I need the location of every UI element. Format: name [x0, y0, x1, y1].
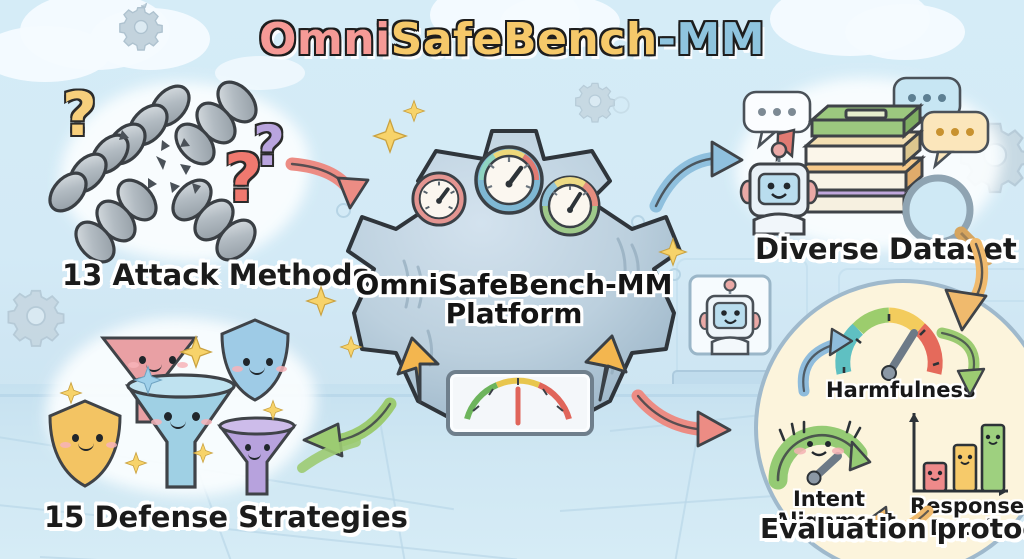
infographic-canvas: OmniSafeBench-MM — [0, 0, 1024, 559]
sparkle-icon — [125, 452, 147, 479]
defense-caption: 15 Defense Strategies — [44, 500, 408, 534]
arrow-dataset-to-evaluation — [938, 238, 1010, 355]
speech-bubble-icon — [922, 112, 988, 166]
gauge-icon — [410, 170, 468, 233]
gear-icon — [608, 92, 634, 118]
sparkle-icon — [193, 443, 213, 468]
response-detail-chart — [906, 411, 1014, 497]
evaluation-caption: Evaluation protocol — [760, 512, 1024, 545]
title-part-omni: Omni — [259, 14, 391, 65]
eval-arrow-up-left — [794, 325, 856, 400]
sparkle-icon — [134, 366, 162, 399]
platform-label: OmniSafeBench-MM Platform — [318, 270, 710, 329]
arrow-platform-to-dataset — [650, 140, 754, 217]
dataset-cluster — [726, 78, 1016, 248]
title-part-mm: -MM — [658, 14, 765, 65]
intent-alignment-gauge-icon — [766, 408, 876, 493]
arrow-tail-decor — [300, 438, 360, 479]
sparkle-icon — [60, 382, 82, 409]
title-part-safebench: SafeBench — [391, 14, 658, 65]
gauge-icon — [473, 144, 545, 221]
panel-meter — [446, 370, 594, 436]
question-mark-icon: ? — [62, 80, 97, 150]
question-mark-icon: ? — [224, 140, 262, 217]
gauge-icon — [538, 174, 602, 243]
arrow-gear-up-left — [386, 334, 442, 409]
arrow-platform-to-evaluation — [632, 392, 744, 457]
sparkle-icon — [180, 336, 212, 373]
page-title: OmniSafeBench-MM — [0, 14, 1024, 65]
sparkle-icon — [403, 100, 425, 127]
arrow-attack-to-platform — [288, 152, 388, 227]
platform-label-line1: OmniSafeBench-MM — [318, 270, 710, 299]
sparkle-icon — [306, 286, 336, 321]
platform-label-line2: Platform — [318, 299, 710, 328]
sparkle-icon — [340, 336, 362, 363]
sparkle-icon — [659, 238, 687, 271]
sparkle-icon — [263, 400, 283, 425]
